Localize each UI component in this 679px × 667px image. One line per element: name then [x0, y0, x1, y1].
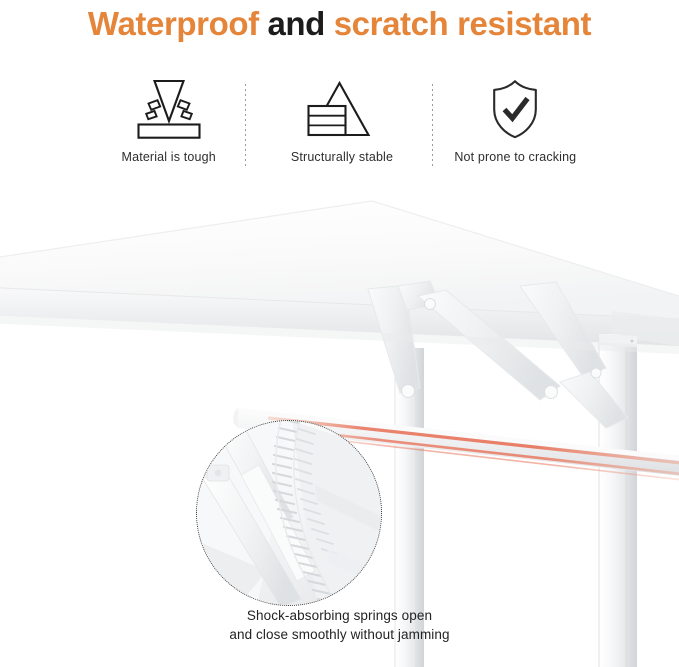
feature-list: Material is tough Structurally stable — [82, 78, 602, 174]
shield-check-icon — [465, 78, 565, 140]
triangle-stacked-blocks-icon — [292, 78, 392, 140]
page-title: Waterproof and scratch resistant — [0, 4, 679, 44]
feature-item-material-is-tough: Material is tough — [82, 78, 255, 164]
feature-item-structurally-stable: Structurally stable — [255, 78, 428, 164]
dotted-divider-1 — [245, 84, 246, 168]
dotted-divider-2 — [432, 84, 433, 168]
magnifier-caption: Shock-absorbing springs open and close s… — [0, 606, 679, 644]
headline-part-scratch-resistant: scratch resistant — [334, 5, 591, 42]
feature-label: Not prone to cracking — [454, 150, 576, 164]
caption-line-2: and close smoothly without jamming — [0, 625, 679, 644]
headline-part-waterproof: Waterproof — [88, 5, 259, 42]
headline-part-and: and — [267, 5, 324, 42]
feature-item-not-prone-to-cracking: Not prone to cracking — [429, 78, 602, 164]
feature-label: Material is tough — [122, 150, 216, 164]
white-folding-desk-photo — [0, 186, 679, 667]
spring-detail-magnifier — [196, 420, 382, 606]
product-feature-banner: Waterproof and scratch resistant — [0, 0, 679, 667]
caption-line-1: Shock-absorbing springs open — [0, 606, 679, 625]
feature-label: Structurally stable — [291, 150, 393, 164]
impact-chisel-on-slab-icon — [119, 78, 219, 140]
